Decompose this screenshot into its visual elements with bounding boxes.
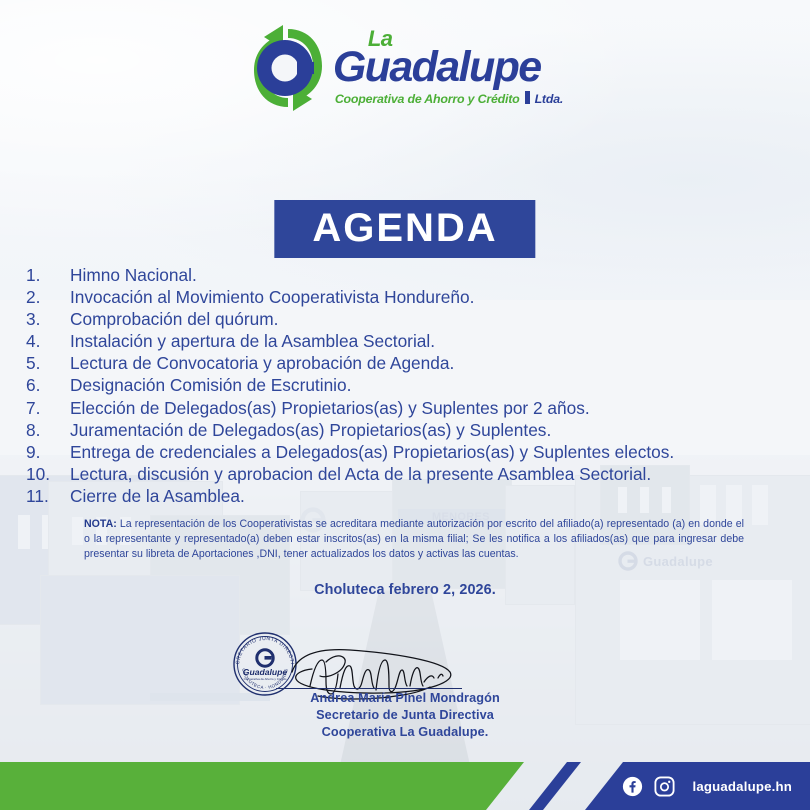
logo-tagline-blue: Ltda. xyxy=(535,92,564,106)
agenda-item: 3. Comprobación del quórum. xyxy=(26,309,786,331)
agenda-item: 11. Cierre de la Asamblea. xyxy=(26,486,786,508)
agenda-item-text: Juramentación de Delegados(as) Propietar… xyxy=(70,420,786,442)
agenda-item-text: Comprobación del quórum. xyxy=(70,309,786,331)
nota-label: NOTA: xyxy=(84,518,117,530)
photo-window xyxy=(72,517,83,545)
signature-block: SECRETARIO JUNTA DIRECTIVA CHOLUTECA · H… xyxy=(0,612,810,742)
agenda-item-number: 10. xyxy=(26,464,70,486)
agenda-item-number: 3. xyxy=(26,309,70,331)
signatory-details: Andrea María Pinel Mondragón Secretario … xyxy=(0,690,810,741)
agenda-item: 2. Invocación al Movimiento Cooperativis… xyxy=(26,287,786,309)
footer-bar: laguadalupe.hn xyxy=(0,762,810,810)
brand-logo: La Guadalupe Cooperativa de Ahorro y Cré… xyxy=(0,22,810,114)
agenda-item: 4. Instalación y apertura de la Asamblea… xyxy=(26,331,786,353)
agenda-item-number: 6. xyxy=(26,375,70,397)
agenda-item-text: Entrega de credenciales a Delegados(as) … xyxy=(70,442,786,464)
agenda-item-text: Lectura, discusión y aprobacion del Acta… xyxy=(70,464,786,486)
agenda-item: 5. Lectura de Convocatoria y aprobación … xyxy=(26,353,786,375)
footer-blue-slash-1 xyxy=(529,762,581,810)
signatory-org: Cooperativa La Guadalupe. xyxy=(0,724,810,741)
svg-text:Guadalupe: Guadalupe xyxy=(243,667,288,677)
footer-social-group: laguadalupe.hn xyxy=(622,762,792,810)
instagram-icon[interactable] xyxy=(654,776,675,797)
signatory-role: Secretario de Junta Directiva xyxy=(0,707,810,724)
signature-rule xyxy=(276,688,462,689)
agenda-title-banner: AGENDA xyxy=(274,200,535,258)
poster-canvas: MENORES Guadalupe xyxy=(0,0,810,810)
place-date: Choluteca febrero 2, 2026. xyxy=(0,582,810,598)
logo-tagline: Cooperativa de Ahorro y Crédito Ltda. xyxy=(333,90,563,106)
svg-text:SECRETARIO JUNTA DIRECTIVA: SECRETARIO JUNTA DIRECTIVA xyxy=(231,630,295,665)
agenda-item: 9. Entrega de credenciales a Delegados(a… xyxy=(26,442,786,464)
agenda-item: 10. Lectura, discusión y aprobacion del … xyxy=(26,464,786,486)
footer-green-band xyxy=(0,762,524,810)
agenda-item-number: 4. xyxy=(26,331,70,353)
agenda-item-text: Cierre de la Asamblea. xyxy=(70,486,786,508)
agenda-list: 1. Himno Nacional. 2. Invocación al Movi… xyxy=(26,265,786,508)
agenda-item-number: 9. xyxy=(26,442,70,464)
agenda-item: 6. Designación Comisión de Escrutinio. xyxy=(26,375,786,397)
agenda-item-text: Elección de Delegados(as) Propietarios(a… xyxy=(70,398,786,420)
agenda-item-text: Instalación y apertura de la Asamblea Se… xyxy=(70,331,786,353)
logo-g-recycle-icon xyxy=(247,23,329,113)
agenda-item-text: Lectura de Convocatoria y aprobación de … xyxy=(70,353,786,375)
agenda-item: 1. Himno Nacional. xyxy=(26,265,786,287)
agenda-item-number: 11. xyxy=(26,486,70,508)
logo-tagline-green: Cooperativa de Ahorro y Crédito xyxy=(335,92,520,106)
nota-body: La representación de los Cooperativistas… xyxy=(84,518,744,560)
logo-mark-svg xyxy=(247,23,329,113)
agenda-item: 7. Elección de Delegados(as) Propietario… xyxy=(26,398,786,420)
agenda-item-number: 1. xyxy=(26,265,70,287)
facebook-icon[interactable] xyxy=(622,776,643,797)
logo-word-la: La xyxy=(368,28,393,50)
logo-tagline-divider xyxy=(525,91,530,104)
website-label[interactable]: laguadalupe.hn xyxy=(692,779,792,794)
svg-text:Cooperativa de Ahorro y Crédit: Cooperativa de Ahorro y Crédito xyxy=(244,677,287,681)
logo-wordmark: La Guadalupe Cooperativa de Ahorro y Cré… xyxy=(333,32,563,104)
agenda-item-text: Designación Comisión de Escrutinio. xyxy=(70,375,786,397)
nota-paragraph: NOTA: La representación de los Cooperati… xyxy=(84,517,744,563)
logo-word-main: Guadalupe xyxy=(333,46,563,89)
agenda-item-number: 7. xyxy=(26,398,70,420)
agenda-item-number: 5. xyxy=(26,353,70,375)
photo-window xyxy=(18,515,30,549)
agenda-item-text: Invocación al Movimiento Cooperativista … xyxy=(70,287,786,309)
signatory-name: Andrea María Pinel Mondragón xyxy=(0,690,810,707)
agenda-item: 8. Juramentación de Delegados(as) Propie… xyxy=(26,420,786,442)
agenda-item-number: 2. xyxy=(26,287,70,309)
agenda-item-text: Himno Nacional. xyxy=(70,265,786,287)
agenda-item-number: 8. xyxy=(26,420,70,442)
